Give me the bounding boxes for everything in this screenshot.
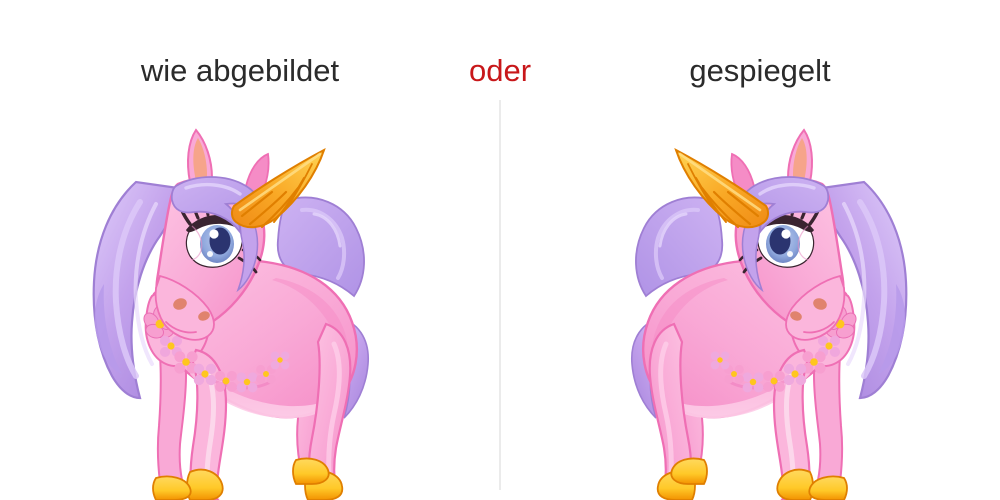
caption-right-mirrored: gespiegelt <box>520 52 1000 90</box>
unicorn-illustration-mirrored <box>540 88 960 500</box>
comparison-page: wie abgebildet oder gespiegelt <box>0 0 1000 500</box>
unicorn-mirrored-panel <box>540 88 960 500</box>
unicorn-hooves <box>153 458 342 500</box>
vertical-divider <box>499 100 501 490</box>
unicorn-hooves <box>658 458 847 500</box>
unicorn-body-group <box>94 130 369 500</box>
unicorn-original-panel <box>40 88 460 500</box>
unicorn-illustration-original <box>40 88 460 500</box>
unicorn-body-group <box>632 130 907 500</box>
hoof-front-far <box>809 476 847 500</box>
hoof-front-far <box>153 476 191 500</box>
caption-left-as-shown: wie abgebildet <box>0 52 480 90</box>
